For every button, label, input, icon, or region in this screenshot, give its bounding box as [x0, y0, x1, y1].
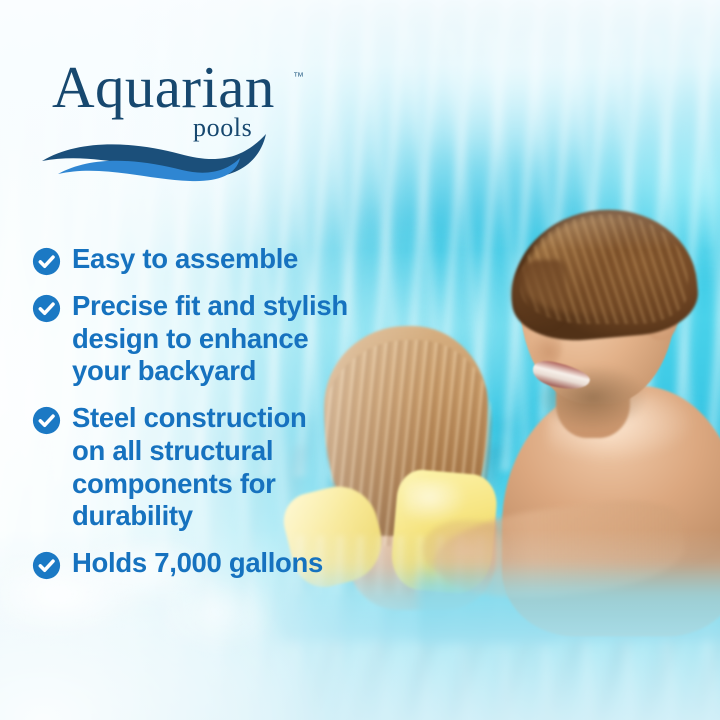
list-item: Precise fit and stylish design to enhanc…	[32, 290, 382, 388]
brand-name: Aquarian	[52, 58, 275, 117]
product-feature-graphic: Aquarian ™ pools Easy to assemble Precis…	[0, 0, 720, 720]
feature-label: Steel construction on all structural com…	[72, 402, 307, 533]
list-item: Holds 7,000 gallons	[32, 547, 382, 580]
feature-list: Easy to assemble Precise fit and stylish…	[32, 243, 382, 580]
feature-label: Easy to assemble	[72, 243, 298, 276]
wave-swoosh-icon	[40, 120, 290, 182]
list-item: Easy to assemble	[32, 243, 382, 276]
feature-label: Holds 7,000 gallons	[72, 547, 323, 580]
check-circle-icon	[32, 406, 61, 435]
brand-subtitle: pools	[193, 115, 252, 141]
list-item: Steel construction on all structural com…	[32, 402, 382, 533]
feature-label: Precise fit and stylish design to enhanc…	[72, 290, 348, 388]
check-circle-icon	[32, 294, 61, 323]
check-circle-icon	[32, 247, 61, 276]
trademark-symbol: ™	[293, 72, 304, 83]
check-circle-icon	[32, 551, 61, 580]
brand-logo: Aquarian ™ pools	[46, 58, 346, 176]
